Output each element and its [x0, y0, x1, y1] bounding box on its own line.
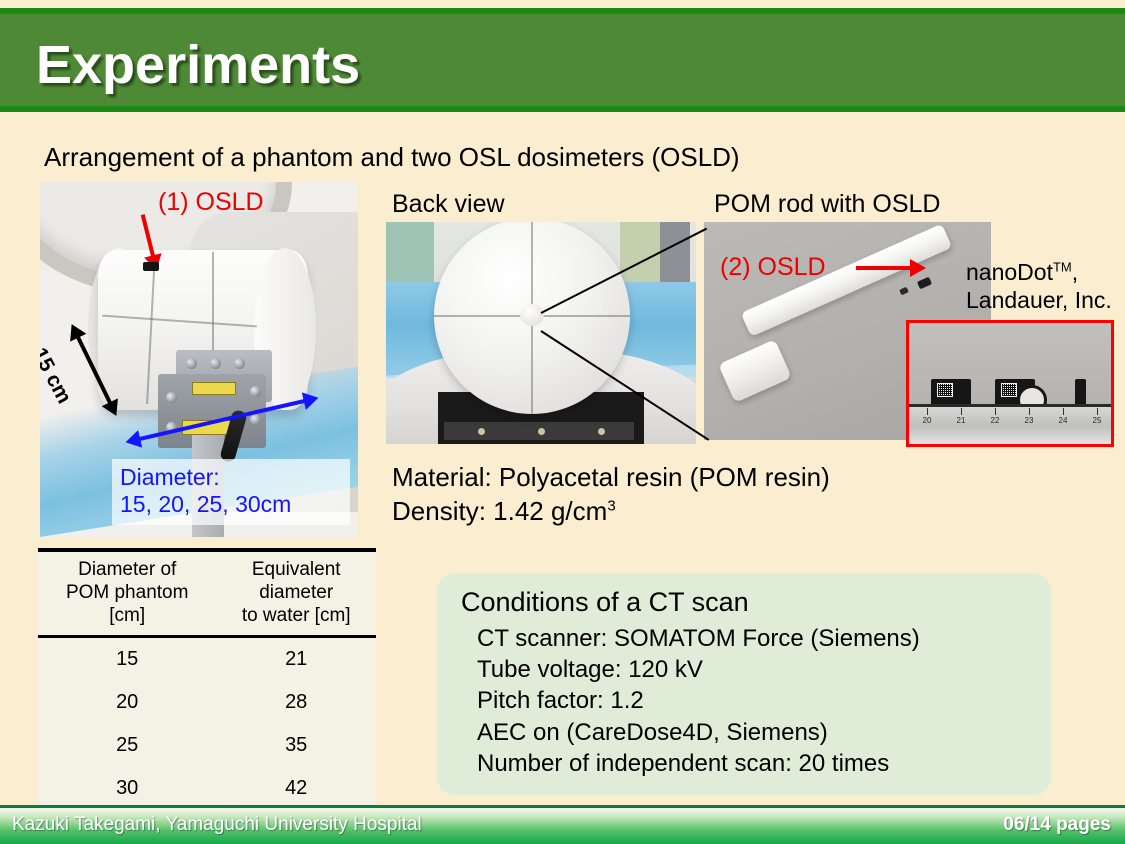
cell-equivalent: 42: [216, 767, 376, 810]
osld2-pointer-arrow: [856, 266, 912, 270]
material-description: Material: Polyacetal resin (POM resin) D…: [392, 460, 830, 529]
screw-icon: [250, 386, 261, 397]
label-osld-2: (2) OSLD: [720, 253, 826, 282]
slide: Experiments Arrangement of a phantom and…: [0, 0, 1125, 844]
diameter-values: 15, 20, 25, 30cm: [120, 491, 342, 518]
osld1-chip: [143, 262, 159, 271]
ct-conditions-list: CT scanner: SOMATOM Force (Siemens) Tube…: [461, 623, 1031, 779]
table-header-diameter: Diameter of POM phantom [cm]: [38, 552, 216, 637]
cell-equivalent: 35: [216, 724, 376, 767]
caption-pom-rod: POM rod with OSLD: [714, 190, 940, 219]
ruler-tick-label: 25: [1093, 416, 1102, 425]
page-title: Experiments: [36, 34, 360, 96]
header-line: to water [cm]: [220, 605, 372, 628]
base-dot: [538, 428, 545, 435]
table-row: 20 28: [38, 681, 376, 724]
nanodot-vendor: Landauer, Inc.: [966, 286, 1112, 314]
ruler-tick-label: 21: [957, 416, 966, 425]
header-line: diameter: [220, 582, 372, 605]
qr-code-2: [1001, 383, 1017, 397]
cell-diameter: 15: [38, 637, 216, 682]
trademark-mark: TM: [1053, 259, 1072, 274]
nanodot-name-line: nanoDotTM,: [966, 258, 1112, 286]
table-row: 15 21: [38, 637, 376, 682]
table-row: 25 35: [38, 724, 376, 767]
slide-footer: Kazuki Takegami, Yamaguchi University Ho…: [0, 805, 1125, 844]
ruler-tick-label: 23: [1025, 416, 1034, 425]
ct-condition-item: Tube voltage: 120 kV: [461, 654, 1031, 685]
screw-icon: [250, 414, 261, 425]
section-heading: Arrangement of a phantom and two OSL dos…: [44, 142, 740, 173]
table-header-equivalent: Equivalent diameter to water [cm]: [216, 552, 376, 637]
header-line: [cm]: [42, 605, 212, 628]
ct-conditions-box: Conditions of a CT scan CT scanner: SOMA…: [437, 573, 1051, 795]
header-line: POM phantom: [42, 582, 212, 605]
label-osld-1: (1) OSLD: [158, 188, 264, 217]
ruler-tick-label: 22: [991, 416, 1000, 425]
photo-phantom-in-gantry: 15 cm (1) OSLD Diameter: 15, 20, 25, 30c…: [40, 182, 358, 537]
base-dot: [598, 428, 605, 435]
qr-code-1: [937, 383, 953, 397]
cell-diameter: 25: [38, 724, 216, 767]
nanodot-comma: ,: [1072, 259, 1078, 285]
ct-condition-item: CT scanner: SOMATOM Force (Siemens): [461, 623, 1031, 654]
footer-page-number: 06/14 pages: [1003, 814, 1111, 836]
cell-diameter: 20: [38, 681, 216, 724]
table-header-row: Diameter of POM phantom [cm] Equivalent …: [38, 552, 376, 637]
table-row: 30 42: [38, 767, 376, 810]
density-label: Density: 1.42 g/cm: [392, 496, 607, 526]
yellow-label: [192, 382, 236, 395]
screw-icon: [234, 358, 245, 369]
slide-title-bar: Experiments: [0, 8, 1125, 112]
ct-condition-item: Pitch factor: 1.2: [461, 685, 1031, 716]
cell-equivalent: 21: [216, 637, 376, 682]
ruler-tick-label: 20: [923, 416, 932, 425]
label-nanodot-product: nanoDotTM, Landauer, Inc.: [966, 258, 1112, 314]
photo-nanodot-dosimeters: 20 21 22 23 24 25: [906, 320, 1114, 447]
density-line: Density: 1.42 g/cm3: [392, 494, 830, 528]
screw-icon: [186, 358, 197, 369]
header-line: Diameter of: [42, 559, 212, 582]
ct-conditions-title: Conditions of a CT scan: [461, 587, 1031, 618]
base-dot: [478, 428, 485, 435]
diameter-title: Diameter:: [120, 464, 342, 491]
screw-icon: [210, 358, 221, 369]
ct-condition-item: AEC on (CareDose4D, Siemens): [461, 717, 1031, 748]
ruler-tick-label: 24: [1059, 416, 1068, 425]
density-exponent: 3: [607, 498, 615, 515]
diameter-overlay-box: Diameter: 15, 20, 25, 30cm: [112, 459, 350, 525]
ct-condition-item: Number of independent scan: 20 times: [461, 748, 1031, 779]
cell-equivalent: 28: [216, 681, 376, 724]
phantom-diameter-table: Diameter of POM phantom [cm] Equivalent …: [38, 548, 376, 814]
cell-diameter: 30: [38, 767, 216, 810]
screw-icon: [166, 392, 177, 403]
ruler: 20 21 22 23 24 25: [909, 404, 1111, 444]
phantom-center-plug: [520, 304, 544, 326]
header-line: Equivalent: [220, 559, 372, 582]
footer-author: Kazuki Takegami, Yamaguchi University Ho…: [12, 814, 422, 836]
caption-back-view: Back view: [392, 190, 505, 219]
material-line: Material: Polyacetal resin (POM resin): [392, 460, 830, 494]
nanodot-name: nanoDot: [966, 259, 1053, 285]
